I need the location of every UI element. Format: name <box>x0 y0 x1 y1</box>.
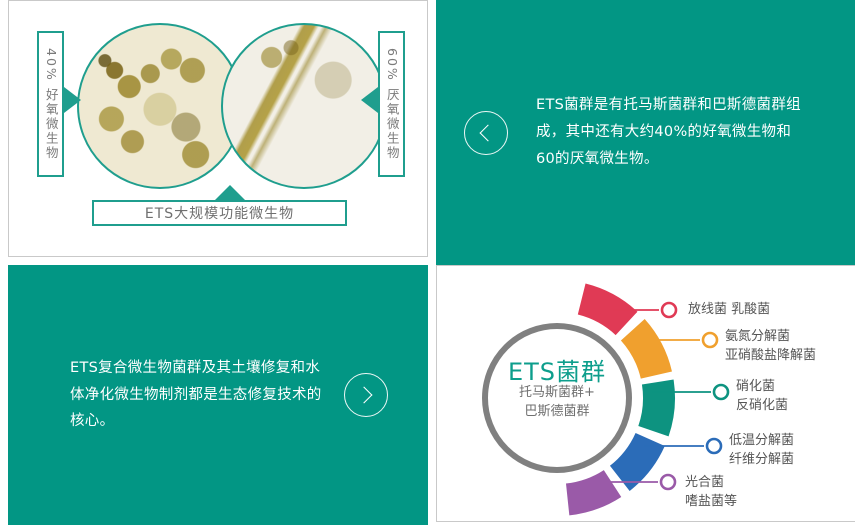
segment-label-0-line1: 放线菌 乳酸菌 <box>688 301 770 320</box>
anaerobic-badge: 60% 厌氧微生物 <box>378 31 405 177</box>
diagram-marker-0 <box>662 303 676 317</box>
aerobic-badge-label: 40% 好氧微生物 <box>44 48 57 160</box>
diagram-marker-3 <box>707 439 721 453</box>
bacteria-diagram-panel: ETS菌群 托马斯菌群+ 巴斯德菌群 放线菌 乳酸菌 氨氮分解菌 亚硝酸盐降解菌… <box>436 265 855 522</box>
chevron-right-icon <box>356 387 373 404</box>
segment-label-3: 低温分解菌 纤维分解菌 <box>729 432 794 470</box>
segment-label-0: 放线菌 乳酸菌 <box>688 301 770 320</box>
chevron-left-icon <box>480 124 497 141</box>
center-subtitle-line1: 托马斯菌群+ <box>482 384 632 403</box>
diagram-wedge-4 <box>566 470 621 515</box>
info-panel-bottom: ETS复合微生物菌群及其土壤修复和水体净化微生物制剂都是生态修复技术的核心。 <box>8 265 428 525</box>
segment-label-1-line2: 亚硝酸盐降解菌 <box>725 347 816 366</box>
arrow-right-icon <box>64 87 81 113</box>
aerobic-badge: 40% 好氧微生物 <box>37 31 64 177</box>
arrow-left-icon <box>361 87 378 113</box>
center-subtitle-line2: 巴斯德菌群 <box>482 403 632 422</box>
arrow-up-icon <box>214 185 246 201</box>
prev-button[interactable] <box>464 111 508 155</box>
next-button[interactable] <box>344 373 388 417</box>
segment-label-2: 硝化菌 反硝化菌 <box>736 378 788 416</box>
segment-label-1-line1: 氨氮分解菌 <box>725 328 816 347</box>
segment-label-4-line2: 嗜盐菌等 <box>685 493 737 512</box>
diagram-marker-1 <box>703 333 717 347</box>
diagram-marker-2 <box>714 385 728 399</box>
diagram-marker-4 <box>661 475 675 489</box>
segment-label-3-line1: 低温分解菌 <box>729 432 794 451</box>
center-subtitle: 托马斯菌群+ 巴斯德菌群 <box>482 384 632 422</box>
segment-label-4: 光合菌 嗜盐菌等 <box>685 474 737 512</box>
center-title: ETS菌群 <box>482 352 632 387</box>
bacteria-radial-diagram: ETS菌群 托马斯菌群+ 巴斯德菌群 放线菌 乳酸菌 氨氮分解菌 亚硝酸盐降解菌… <box>437 266 855 522</box>
segment-label-4-line1: 光合菌 <box>685 474 737 493</box>
segment-label-3-line2: 纤维分解菌 <box>729 451 794 470</box>
segment-label-2-line1: 硝化菌 <box>736 378 788 397</box>
info-panel-bottom-content: ETS复合微生物菌群及其土壤修复和水体净化微生物制剂都是生态修复技术的核心。 <box>8 265 428 525</box>
microscope-illustration: 40% 好氧微生物 60% 厌氧微生物 ETS大规模功能微生物 <box>9 1 427 256</box>
info-panel-top-text: ETS菌群是有托马斯菌群和巴斯德菌群组成，其中还有大约40%的好氧微生物和60的… <box>536 92 806 172</box>
microscope-caption-label: ETS大规模功能微生物 <box>145 203 294 223</box>
microscope-panel: 40% 好氧微生物 60% 厌氧微生物 ETS大规模功能微生物 <box>8 0 428 257</box>
microscope-caption: ETS大规模功能微生物 <box>92 200 347 226</box>
diagram-wedge-2 <box>638 380 675 437</box>
segment-label-2-line2: 反硝化菌 <box>736 397 788 416</box>
panel-grid: 40% 好氧微生物 60% 厌氧微生物 ETS大规模功能微生物 ETS菌群是有托… <box>0 0 855 525</box>
anaerobic-badge-label: 60% 厌氧微生物 <box>385 48 398 160</box>
microscope-photo-left <box>77 23 243 189</box>
segment-label-1: 氨氮分解菌 亚硝酸盐降解菌 <box>725 328 816 366</box>
info-panel-bottom-text: ETS复合微生物菌群及其土壤修复和水体净化微生物制剂都是生态修复技术的核心。 <box>70 355 322 435</box>
info-panel-top-content: ETS菌群是有托马斯菌群和巴斯德菌群组成，其中还有大约40%的好氧微生物和60的… <box>436 0 855 265</box>
info-panel-top: ETS菌群是有托马斯菌群和巴斯德菌群组成，其中还有大约40%的好氧微生物和60的… <box>436 0 855 265</box>
